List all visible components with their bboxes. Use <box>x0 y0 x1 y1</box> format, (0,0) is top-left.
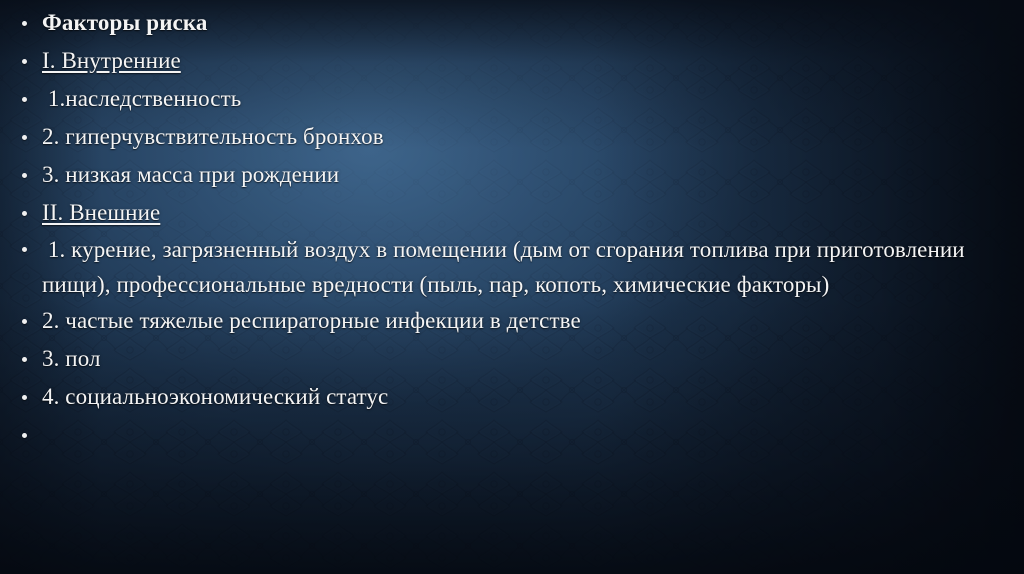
bullet-item[interactable]: II. Внешние <box>16 194 1002 232</box>
bullet-item[interactable]: 3. пол <box>16 340 1002 378</box>
bullet-item-text: 1.наследственность <box>42 86 241 111</box>
slide-content: Факторы рискаI. Внутренние 1.наследствен… <box>0 0 1024 454</box>
bullet-item[interactable]: 3. низкая масса при рождении <box>16 156 1002 194</box>
bullet-item[interactable]: Факторы риска <box>16 4 1002 42</box>
bullet-item-text: 3. низкая масса при рождении <box>42 162 339 187</box>
bullet-list: Факторы рискаI. Внутренние 1.наследствен… <box>16 4 1002 454</box>
bullet-item[interactable]: 2. гиперчувствительность бронхов <box>16 118 1002 156</box>
bullet-item[interactable]: 4. социальноэкономический статус <box>16 378 1002 416</box>
bullet-item-empty[interactable] <box>16 416 1002 454</box>
bullet-item[interactable]: 2. частые тяжелые респираторные инфекции… <box>16 302 1002 340</box>
bullet-item[interactable]: 1. курение, загрязненный воздух в помеще… <box>16 232 1002 302</box>
bullet-item-text: II. Внешние <box>42 200 160 225</box>
bullet-item-text: 2. гиперчувствительность бронхов <box>42 124 384 149</box>
bullet-item-text: 1. курение, загрязненный воздух в помеще… <box>42 237 971 297</box>
bullet-item-text: 2. частые тяжелые респираторные инфекции… <box>42 308 581 333</box>
bullet-item[interactable]: I. Внутренние <box>16 42 1002 80</box>
presentation-slide: Факторы рискаI. Внутренние 1.наследствен… <box>0 0 1024 574</box>
bullet-item-text: Факторы риска <box>42 10 207 35</box>
bullet-item-text: I. Внутренние <box>42 48 181 73</box>
bullet-item-text: 4. социальноэкономический статус <box>42 384 388 409</box>
bullet-item[interactable]: 1.наследственность <box>16 80 1002 118</box>
bullet-item-text: 3. пол <box>42 346 101 371</box>
